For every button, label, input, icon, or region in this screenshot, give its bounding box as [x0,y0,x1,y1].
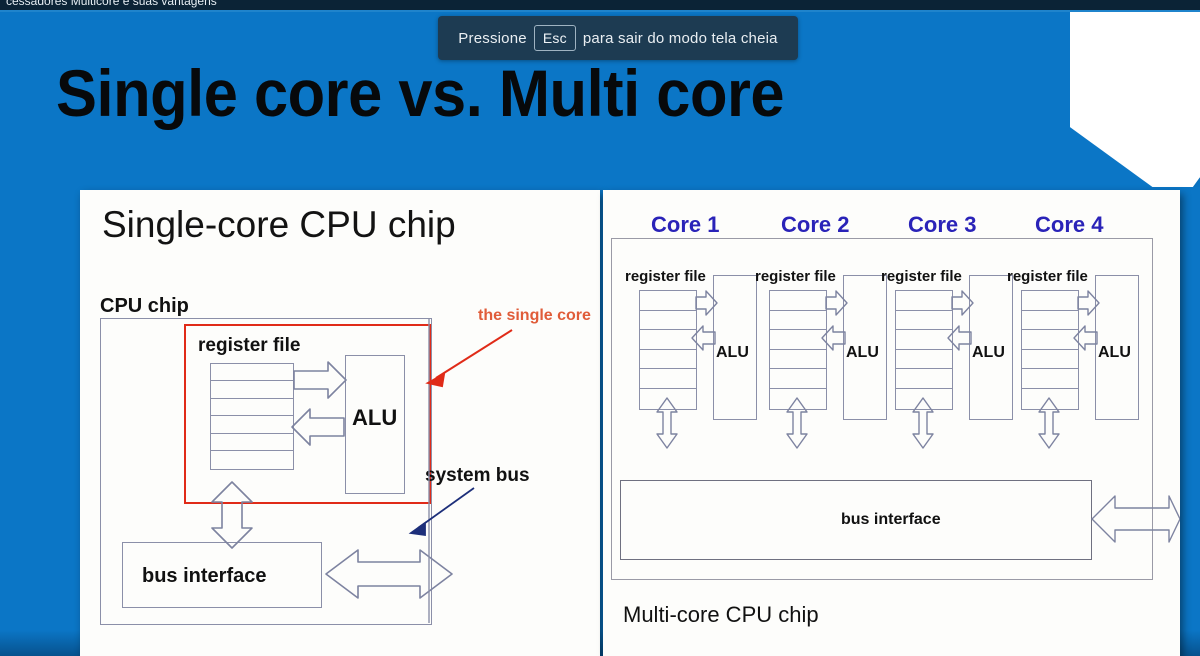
core-3-alu-label: ALU [972,344,1005,362]
core-2-label: Core 2 [781,212,849,238]
title-bar-accent-line [0,10,1200,12]
register-file-label: register file [198,335,300,357]
register-row [1022,291,1078,311]
register-row [640,350,696,370]
multi-core-bus-interface-label: bus interface [841,511,941,529]
register-row [896,291,952,311]
register-file-box [210,363,294,470]
register-row [211,451,293,468]
core-4-register-file-box [1021,290,1079,410]
register-row [770,291,826,311]
register-row [640,291,696,311]
single-core-heading: Single-core CPU chip [102,204,456,246]
multi-core-chip-caption: Multi-core CPU chip [623,602,819,628]
alu-label: ALU [352,405,397,431]
toast-suffix-text: para sair do modo tela cheia [583,30,778,47]
register-row [1022,330,1078,350]
register-row [770,389,826,409]
page-title: Single core vs. Multi core [56,60,784,126]
core-2-register-file-label: register file [755,268,836,285]
corner-decoration [1070,12,1200,187]
register-row [896,330,952,350]
core-4-label: Core 4 [1035,212,1103,238]
register-row [640,330,696,350]
core-3-register-file-label: register file [881,268,962,285]
presentation-slide: Single core vs. Multi core Single-core C… [0,12,1200,656]
esc-key-badge: Esc [534,25,576,51]
core-1-register-file-box [639,290,697,410]
toast-prefix-text: Pressione [458,30,527,47]
multi-core-figure: Core 1 Core 2 Core 3 Core 4 register fil… [603,190,1180,656]
register-row [211,364,293,381]
core-3-label: Core 3 [908,212,976,238]
register-row [640,369,696,389]
core-1-register-file-label: register file [625,268,706,285]
register-row [896,350,952,370]
core-4-register-file-label: register file [1007,268,1088,285]
core-2-register-file-box [769,290,827,410]
register-row [896,369,952,389]
single-core-figure: Single-core CPU chip CPU chip register f… [80,190,600,656]
bus-interface-label: bus interface [142,565,266,588]
register-row [640,389,696,409]
register-row [896,389,952,409]
register-row [211,416,293,433]
register-row [211,381,293,398]
core-1-label: Core 1 [651,212,719,238]
fullscreen-exit-toast: Pressione Esc para sair do modo tela che… [438,16,798,60]
register-row [640,311,696,331]
register-row [770,330,826,350]
register-row [1022,350,1078,370]
register-row [1022,389,1078,409]
register-row [896,311,952,331]
register-row [211,399,293,416]
register-row [1022,311,1078,331]
register-row [770,311,826,331]
register-row [211,434,293,451]
core-1-alu-label: ALU [716,344,749,362]
the-single-core-annotation: the single core [478,307,591,325]
core-4-alu-label: ALU [1098,344,1131,362]
register-row [1022,369,1078,389]
core-2-alu-label: ALU [846,344,879,362]
window-title-text: cessadores Multicore e suas vantagens [6,0,217,8]
register-row [770,350,826,370]
system-bus-annotation: system bus [425,465,530,487]
browser-title-bar: cessadores Multicore e suas vantagens [0,0,1200,12]
cpu-chip-label: CPU chip [100,295,189,318]
register-row [770,369,826,389]
core-3-register-file-box [895,290,953,410]
